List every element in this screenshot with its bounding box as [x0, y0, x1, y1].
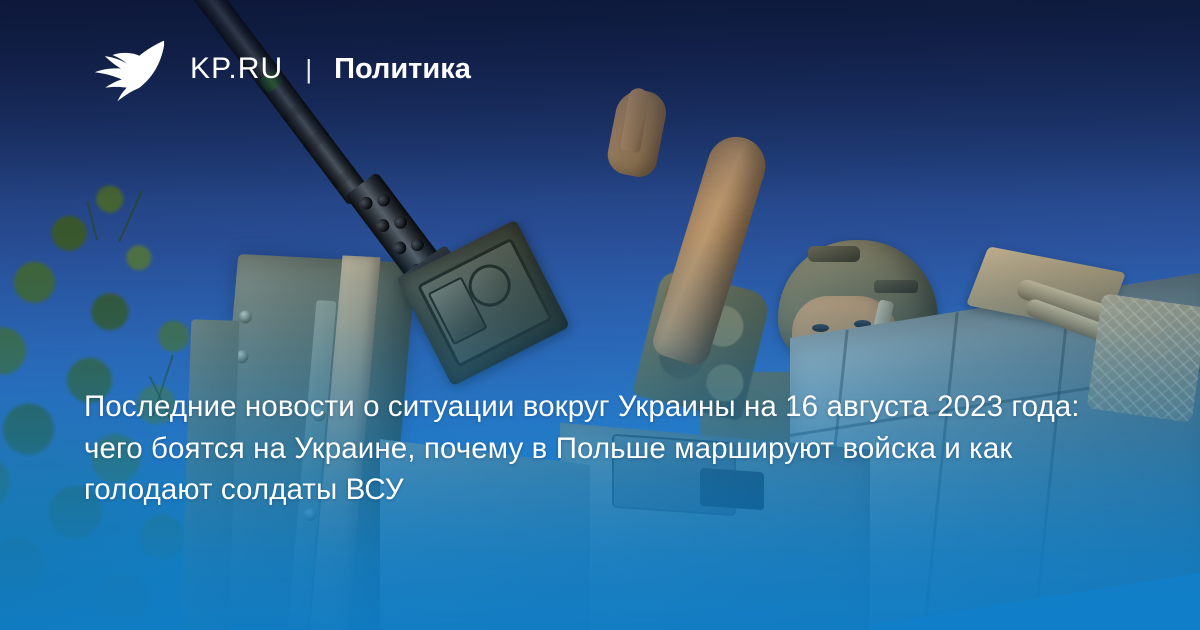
header-separator: |	[305, 54, 312, 85]
site-header: KP.RU | Политика	[94, 36, 471, 102]
swallow-bird-logo-icon[interactable]	[94, 36, 166, 102]
rubric-label[interactable]: Политика	[334, 53, 471, 86]
article-share-card: KP.RU | Политика Последние новости о сит…	[0, 0, 1200, 630]
brand-name[interactable]: KP.RU	[190, 52, 283, 86]
article-headline: Последние новости о ситуации вокруг Укра…	[84, 386, 1084, 511]
